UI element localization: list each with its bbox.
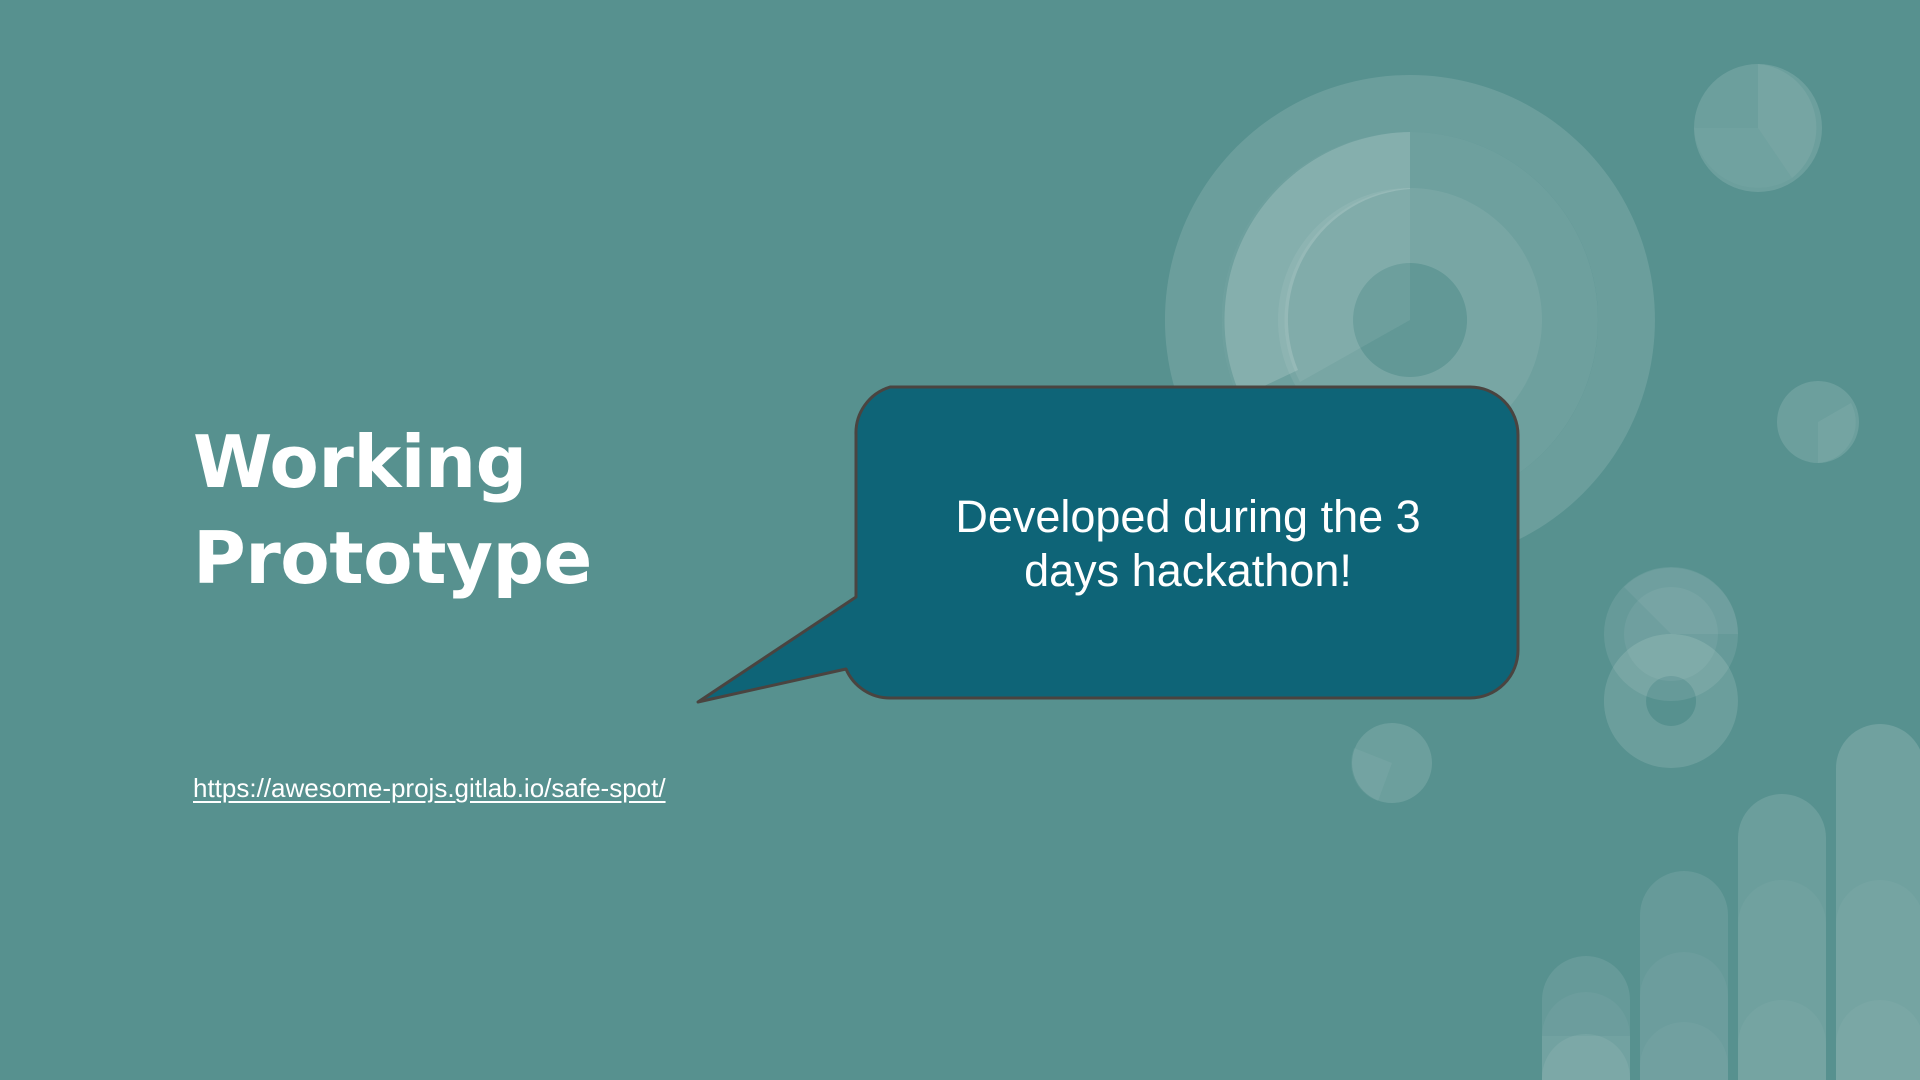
pie-chart-bottom-icon [1351, 722, 1432, 803]
donut-chart-lower-right-icon [1604, 567, 1738, 768]
callout-bubble: Developed during the 3 days hackathon! [680, 385, 1520, 715]
pie-chart-top-right-icon [1694, 64, 1822, 192]
slide-canvas: Working Prototype Developed during the 3… [0, 0, 1920, 1080]
project-url-link[interactable]: https://awesome-projs.gitlab.io/safe-spo… [193, 773, 666, 804]
pie-chart-mid-right-icon [1777, 381, 1859, 463]
callout-bubble-text: Developed during the 3 days hackathon! [868, 490, 1508, 598]
page-title: Working Prototype [193, 415, 713, 607]
bar-chart-bottom-right-icon [1542, 724, 1920, 1080]
